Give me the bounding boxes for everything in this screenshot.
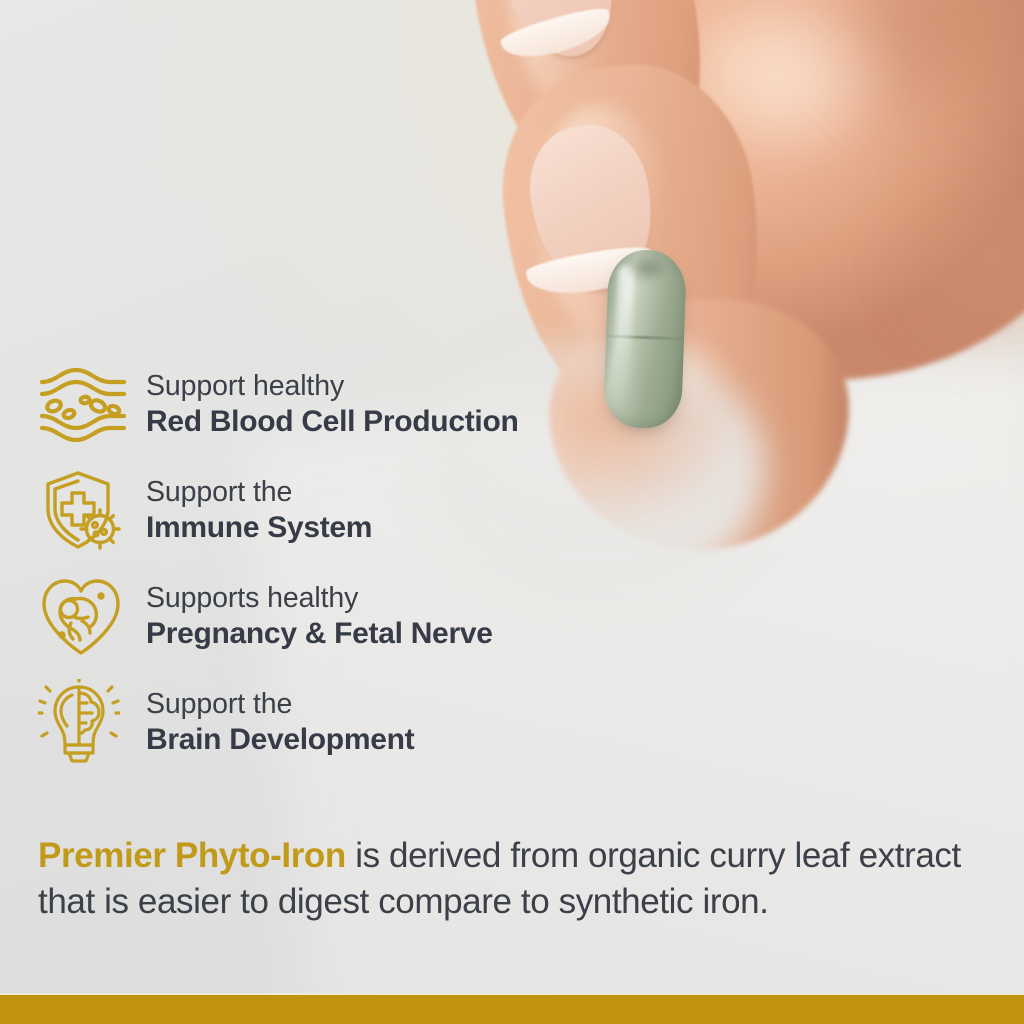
- bottom-accent-bar: [0, 993, 1024, 1024]
- benefit-item-immune-system: Support the Immune System: [38, 458, 658, 564]
- benefit-item-pregnancy: Supports healthy Pregnancy & Fetal Nerve: [38, 564, 658, 670]
- blood-vessel-icon: [38, 363, 134, 447]
- brain-bulb-icon: [38, 681, 134, 765]
- benefit-line-1: Supports healthy: [146, 582, 493, 616]
- shield-immune-icon: [38, 469, 134, 553]
- benefit-line-2: Brain Development: [146, 722, 414, 758]
- benefit-text: Support healthy Red Blood Cell Productio…: [134, 370, 519, 441]
- benefit-text: Support the Immune System: [134, 476, 372, 547]
- benefit-text: Support the Brain Development: [134, 688, 414, 759]
- pregnancy-heart-icon: [38, 575, 134, 659]
- product-description: Premier Phyto-Iron is derived from organ…: [38, 833, 1003, 925]
- benefit-line-2: Red Blood Cell Production: [146, 404, 519, 440]
- benefit-line-2: Immune System: [146, 510, 372, 546]
- benefit-line-2: Pregnancy & Fetal Nerve: [146, 616, 493, 652]
- benefit-line-1: Support healthy: [146, 370, 519, 404]
- benefit-item-brain-development: Support the Brain Development: [38, 670, 658, 776]
- benefit-text: Supports healthy Pregnancy & Fetal Nerve: [134, 582, 493, 653]
- benefit-item-red-blood-cell: Support healthy Red Blood Cell Productio…: [38, 352, 658, 458]
- benefit-line-1: Support the: [146, 476, 372, 510]
- benefit-line-1: Support the: [146, 688, 414, 722]
- brand-name: Premier Phyto-Iron: [38, 836, 346, 875]
- benefits-list: Support healthy Red Blood Cell Productio…: [38, 352, 658, 776]
